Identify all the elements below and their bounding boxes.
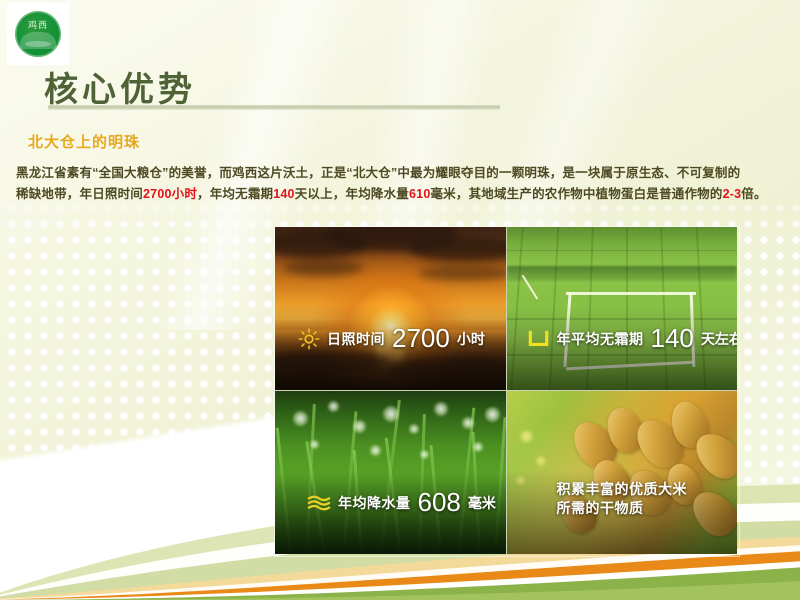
title-divider	[48, 105, 500, 110]
caption-line-2: 所需的干物质	[557, 499, 688, 518]
field-path	[566, 292, 695, 295]
frost-bracket-icon	[527, 329, 550, 349]
field-path	[566, 361, 695, 370]
shoreline-shape	[275, 351, 390, 374]
bokeh-dot	[485, 407, 500, 422]
caption-label: 年均降水量	[338, 493, 411, 513]
grass-blade	[418, 414, 426, 554]
caption-label: 日照时间	[327, 329, 385, 349]
body-highlight-rainfall: 610	[409, 187, 430, 201]
cloud-shape	[284, 260, 362, 276]
caption-value: 140	[651, 323, 694, 354]
caption-label: 年平均无霜期	[557, 329, 644, 349]
body-highlight-sunlight: 2700小时	[143, 187, 197, 201]
page-title: 核心优势	[44, 62, 196, 111]
caption-unit: 毫米	[468, 493, 496, 513]
body-paragraph: 黑龙江省素有“全国大粮仓”的美誉，而鸡西这片沃土，正是“北大仓”中最为耀眼夺目的…	[16, 163, 786, 205]
bokeh-dot	[353, 420, 366, 433]
caption-annual-rainfall: 年均降水量 608 毫米	[307, 487, 496, 518]
grass-blade	[276, 427, 292, 554]
bokeh-dot	[370, 445, 381, 456]
caption-value: 2700	[392, 323, 450, 354]
field-divider	[507, 354, 738, 356]
photo-rice-grains-closeup: 积累丰富的优质大米 所需的干物质	[507, 391, 738, 554]
body-highlight-frostfree: 140	[273, 187, 294, 201]
bokeh-dot	[383, 406, 399, 422]
photo-sunrise-over-wetland: 日照时间 2700 小时	[275, 227, 506, 390]
body-line2-a: 稀缺地带，年日照时间	[16, 187, 143, 201]
grass-blade	[457, 408, 475, 554]
body-highlight-protein: 2-3	[723, 187, 742, 201]
bokeh-dot	[462, 417, 474, 429]
photo-dewy-grass-bokeh: 年均降水量 608 毫米	[275, 391, 506, 554]
field-divider	[696, 227, 706, 390]
caption-sunlight-hours: 日照时间 2700 小时	[298, 323, 485, 354]
cloud-shape	[418, 266, 506, 281]
logo-seal-icon: 鸡西	[15, 11, 61, 57]
bokeh-dot	[293, 411, 308, 426]
caption-frost-free-days: 年平均无霜期 140 天左右	[527, 323, 738, 354]
water-waves-icon	[307, 493, 331, 513]
bokeh-dot	[516, 476, 525, 485]
body-line2-b: ，年均无霜期	[197, 187, 273, 201]
cloud-shape	[409, 237, 506, 261]
logo-glyph: 鸡西	[15, 18, 61, 31]
caption-unit: 小时	[457, 329, 485, 349]
bokeh-dot	[420, 450, 429, 459]
slide-root: 鸡西 核心优势 北大仓上的明珠 黑龙江省素有“全国大粮仓”的美誉，而鸡西这片沃土…	[0, 0, 800, 600]
caption-value: 608	[418, 487, 461, 518]
bokeh-dot	[434, 402, 448, 416]
field-divider	[660, 227, 667, 390]
logo-hill-shape	[20, 32, 56, 49]
bokeh-dot	[473, 442, 483, 452]
caption-line-1: 积累丰富的优质大米	[557, 480, 688, 499]
caption-unit: 天左右	[701, 329, 737, 349]
body-line2-e: 倍。	[741, 187, 766, 201]
field-divider	[507, 250, 738, 252]
section-subtitle: 北大仓上的明珠	[28, 131, 140, 152]
body-line2-d: 毫米，其地域生产的农作物中植物蛋白是普通作物的	[430, 187, 722, 201]
field-divider	[548, 227, 558, 390]
body-line1: 黑龙江省素有“全国大粮仓”的美誉，而鸡西这片沃土，正是“北大仓”中最为耀眼夺目的…	[16, 166, 740, 180]
company-logo: 鸡西	[7, 3, 69, 65]
caption-dry-matter: 积累丰富的优质大米 所需的干物质	[557, 480, 688, 518]
photo-grid: 日照时间 2700 小时	[275, 227, 737, 554]
bokeh-dot	[409, 424, 419, 434]
grass-blade	[494, 417, 506, 554]
body-line2-c: 天以上，年均降水量	[295, 187, 409, 201]
sun-icon	[298, 328, 320, 350]
bokeh-dot	[328, 401, 339, 412]
bokeh-dot	[310, 440, 319, 449]
photo-aerial-paddy-fields: 年平均无霜期 140 天左右	[507, 227, 738, 390]
tree-line	[507, 266, 738, 281]
field-divider	[507, 318, 738, 320]
field-divider	[510, 227, 523, 390]
